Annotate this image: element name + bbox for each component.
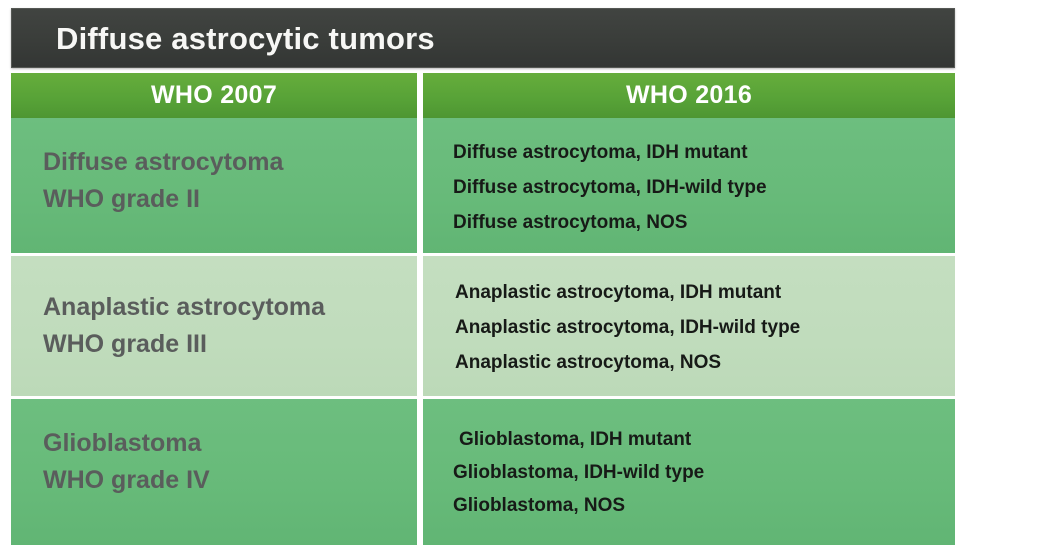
- column-header-who-2016: WHO 2016: [423, 73, 955, 118]
- who2016-variant: Diffuse astrocytoma, IDH-wild type: [453, 178, 955, 197]
- table-header-row: WHO 2007 WHO 2016: [11, 73, 955, 118]
- table-row: Glioblastoma WHO grade IV Glioblastoma, …: [11, 399, 955, 545]
- page-title: Diffuse astrocytic tumors: [56, 23, 435, 54]
- who2007-entity-grade: WHO grade III: [43, 326, 417, 363]
- who2007-entity-grade: WHO grade IV: [43, 462, 417, 499]
- who2007-entity-name: Glioblastoma: [43, 425, 417, 462]
- who2007-entity-name: Anaplastic astrocytoma: [43, 289, 417, 326]
- who2016-variant: Diffuse astrocytoma, IDH mutant: [453, 143, 955, 162]
- who2007-entity-name: Diffuse astrocytoma: [43, 144, 417, 181]
- who2016-variant: Anaplastic astrocytoma, NOS: [455, 353, 955, 372]
- cell-who2007-diffuse-astrocytoma: Diffuse astrocytoma WHO grade II: [11, 118, 417, 253]
- column-header-who-2007-label: WHO 2007: [151, 83, 277, 108]
- cell-who2016-glioblastoma: Glioblastoma, IDH mutant Glioblastoma, I…: [423, 399, 955, 545]
- who2016-variant: Glioblastoma, NOS: [453, 496, 955, 515]
- table-row: Anaplastic astrocytoma WHO grade III Ana…: [11, 256, 955, 396]
- who2016-variant: Anaplastic astrocytoma, IDH-wild type: [455, 318, 955, 337]
- cell-who2016-anaplastic-astrocytoma: Anaplastic astrocytoma, IDH mutant Anapl…: [423, 256, 955, 396]
- who2016-variant: Glioblastoma, IDH-wild type: [453, 463, 955, 482]
- who2016-variant: Anaplastic astrocytoma, IDH mutant: [455, 283, 955, 302]
- who2016-variant: Glioblastoma, IDH mutant: [459, 430, 955, 449]
- column-header-who-2007: WHO 2007: [11, 73, 417, 118]
- slide-title-bar: Diffuse astrocytic tumors: [11, 8, 955, 68]
- who2016-variant: Diffuse astrocytoma, NOS: [453, 213, 955, 232]
- cell-who2007-anaplastic-astrocytoma: Anaplastic astrocytoma WHO grade III: [11, 256, 417, 396]
- cell-who2016-diffuse-astrocytoma: Diffuse astrocytoma, IDH mutant Diffuse …: [423, 118, 955, 253]
- table-row: Diffuse astrocytoma WHO grade II Diffuse…: [11, 118, 955, 253]
- column-header-who-2016-label: WHO 2016: [626, 83, 752, 108]
- cell-who2007-glioblastoma: Glioblastoma WHO grade IV: [11, 399, 417, 545]
- classification-comparison-table: WHO 2007 WHO 2016 Diffuse astrocytoma WH…: [11, 73, 955, 545]
- who2007-entity-grade: WHO grade II: [43, 181, 417, 218]
- slide-canvas: Diffuse astrocytic tumors WHO 2007 WHO 2…: [0, 0, 1046, 551]
